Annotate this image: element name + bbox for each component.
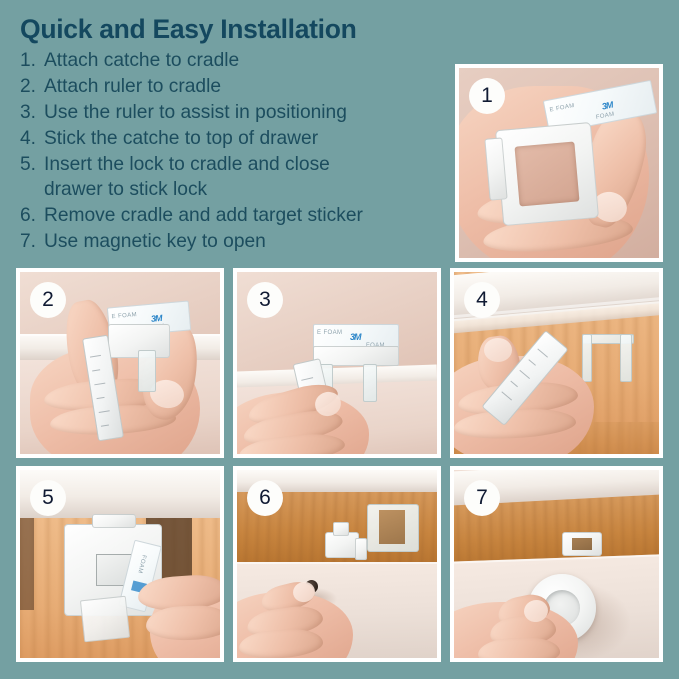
step-text: Attach catche to cradle <box>44 48 450 74</box>
step-number: 3. <box>20 100 44 126</box>
page-title: Quick and Easy Installation <box>20 14 450 44</box>
foam-label: E FOAM <box>317 330 342 336</box>
brand-logo-3m: 3M <box>350 332 361 342</box>
step-number: 7. <box>20 229 44 255</box>
step-photo-panel-7: 7 <box>450 466 663 662</box>
step-number: 4. <box>20 126 44 152</box>
photo-7: 7 <box>454 470 659 658</box>
list-item: 6. Remove cradle and add target sticker <box>20 203 450 229</box>
step-text-continuation: drawer to stick lock <box>44 177 450 203</box>
list-item: 7. Use magnetic key to open <box>20 229 450 255</box>
step-photo-panel-4: 4 <box>450 268 663 458</box>
step-badge: 6 <box>247 480 283 516</box>
photo-5: FOAM 5 <box>20 470 220 658</box>
list-item: 5. Insert the lock to cradle and close d… <box>20 152 450 204</box>
list-item: 3. Use the ruler to assist in positionin… <box>20 100 450 126</box>
installation-infographic: Quick and Easy Installation 1. Attach ca… <box>0 0 679 679</box>
list-item: 2. Attach ruler to cradle <box>20 74 450 100</box>
photo-2: E FOAM 3M FOAM 2 <box>20 272 220 454</box>
list-item: 4. Stick the catche to top of drawer <box>20 126 450 152</box>
header-block: Quick and Easy Installation 1. Attach ca… <box>20 14 450 255</box>
step-photo-panel-1: E FOAM 3M FOAM 1 <box>455 64 663 262</box>
step-photo-panel-5: FOAM 5 <box>16 466 224 662</box>
brand-logo-3m: 3M <box>601 100 613 112</box>
photo-4: 4 <box>454 272 659 454</box>
step-text: Use the ruler to assist in positioning <box>44 100 450 126</box>
step-photo-panel-6: 6 <box>233 466 441 662</box>
step-text: Remove cradle and add target sticker <box>44 203 450 229</box>
photo-3: E FOAM 3M FOAM <box>237 272 437 454</box>
installation-steps-list: 1. Attach catche to cradle 2. Attach rul… <box>20 48 450 255</box>
list-item: 1. Attach catche to cradle <box>20 48 450 74</box>
step-text: Insert the lock to cradle and close draw… <box>44 152 450 204</box>
step-number: 2. <box>20 74 44 100</box>
foam-label: E FOAM <box>111 312 137 320</box>
foam-label: FOAM <box>136 554 146 574</box>
brand-logo-3m: 3M <box>151 313 162 324</box>
step-number: 1. <box>20 48 44 74</box>
step-badge: 3 <box>247 282 283 318</box>
step-number: 6. <box>20 203 44 229</box>
step-text: Use magnetic key to open <box>44 229 450 255</box>
step-badge: 7 <box>464 480 500 516</box>
step-text: Attach ruler to cradle <box>44 74 450 100</box>
foam-label: E FOAM <box>549 103 575 114</box>
step-photo-panel-2: E FOAM 3M FOAM 2 <box>16 268 224 458</box>
step-badge: 2 <box>30 282 66 318</box>
step-text: Stick the catche to top of drawer <box>44 126 450 152</box>
step-badge: 5 <box>30 480 66 516</box>
photo-1: E FOAM 3M FOAM 1 <box>459 68 659 258</box>
step-text-main: Insert the lock to cradle and close <box>44 154 330 175</box>
step-badge: 4 <box>464 282 500 318</box>
step-photo-panel-3: E FOAM 3M FOAM <box>233 268 441 458</box>
photo-6: 6 <box>237 470 437 658</box>
step-badge: 1 <box>469 78 505 114</box>
foam-label: FOAM <box>595 111 615 121</box>
step-number: 5. <box>20 152 44 178</box>
